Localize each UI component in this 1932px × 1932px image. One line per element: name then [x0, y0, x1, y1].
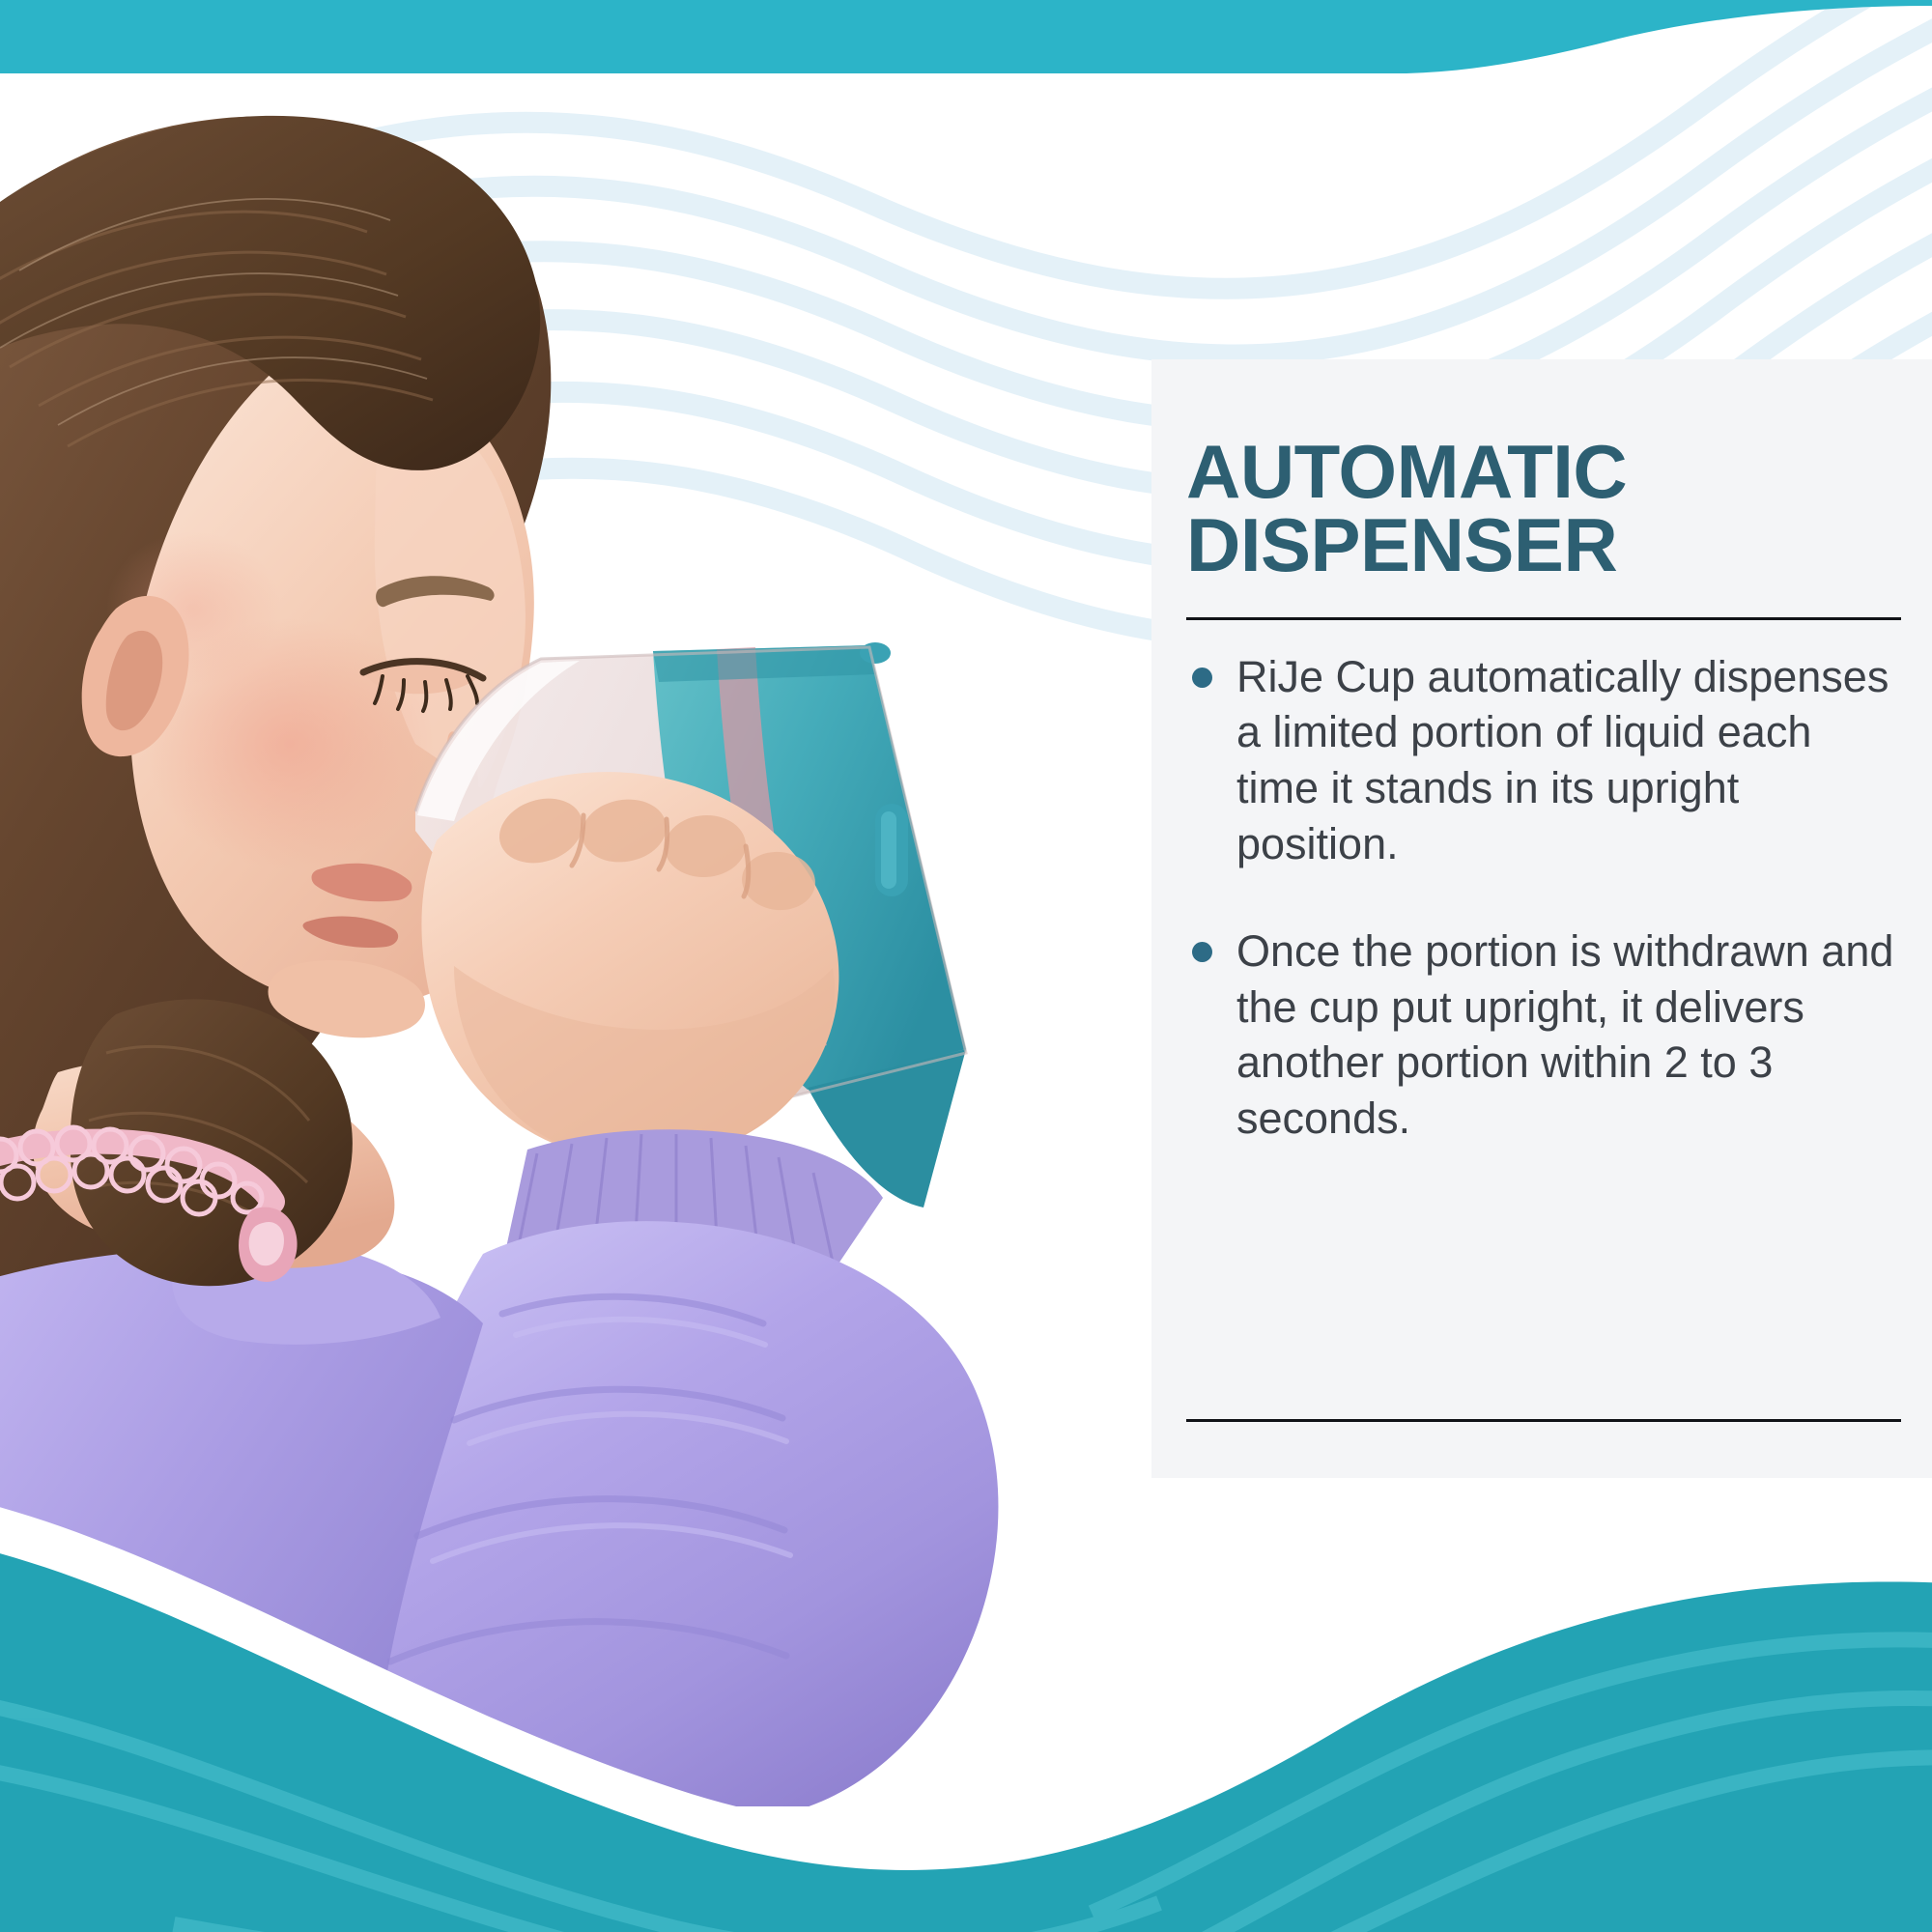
bullet-dot-icon: [1192, 942, 1212, 962]
product-photo: [0, 68, 1140, 1806]
title-divider: [1186, 617, 1901, 620]
list-item: Once the portion is withdrawn and the cu…: [1186, 923, 1901, 1146]
bullet-text: Once the portion is withdrawn and the cu…: [1236, 926, 1893, 1143]
panel-divider-wrap: [1186, 1419, 1901, 1422]
bullet-dot-icon: [1192, 668, 1212, 688]
page-title-line-2: DISPENSER: [1186, 502, 1617, 587]
feature-bullet-list: RiJe Cup automatically dispenses a limit…: [1186, 649, 1901, 1147]
bullet-text: RiJe Cup automatically dispenses a limit…: [1236, 652, 1889, 868]
info-panel: AUTOMATICDISPENSER RiJe Cup automaticall…: [1151, 359, 1932, 1478]
list-item: RiJe Cup automatically dispenses a limit…: [1186, 649, 1901, 871]
page-title: AUTOMATICDISPENSER: [1186, 435, 1804, 582]
page-title-line-1: AUTOMATIC: [1186, 429, 1627, 514]
panel-divider: [1186, 1419, 1901, 1422]
infographic-canvas: AUTOMATICDISPENSER RiJe Cup automaticall…: [0, 0, 1932, 1932]
